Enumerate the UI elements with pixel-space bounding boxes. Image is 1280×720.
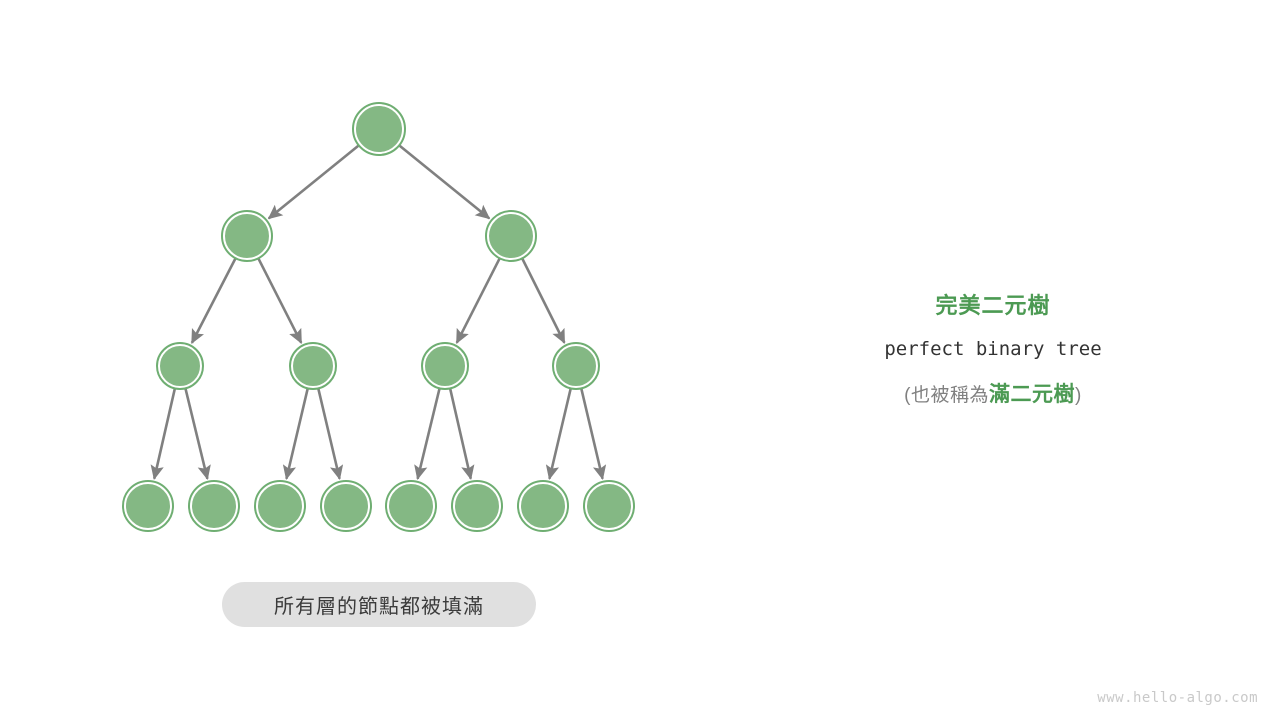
tree-node xyxy=(585,482,633,530)
caption-badge: 所有層的節點都被填滿 xyxy=(222,582,536,627)
tree-node xyxy=(190,482,238,530)
tree-edge xyxy=(269,145,359,218)
tree-edges-layer xyxy=(0,0,760,640)
tree-node xyxy=(423,344,467,388)
tree-node xyxy=(158,344,202,388)
tree-edge xyxy=(154,388,175,478)
tree-edge xyxy=(581,388,602,478)
tree-edges-group xyxy=(154,145,602,478)
legend-title: 完美二元樹 xyxy=(808,292,1178,320)
caption-label: 所有層的節點都被填滿 xyxy=(274,590,484,619)
tree-edge xyxy=(549,388,570,478)
tree-edge xyxy=(418,388,440,478)
legend-alias-prefix: (也被稱為 xyxy=(904,385,989,406)
tree-node xyxy=(487,212,535,260)
legend-block: 完美二元樹 perfect binary tree (也被稱為滿二元樹) xyxy=(808,292,1178,408)
legend-alias-suffix: ) xyxy=(1075,385,1082,406)
tree-edge xyxy=(450,388,471,478)
legend-alias-strong: 滿二元樹 xyxy=(989,383,1075,406)
tree-node xyxy=(387,482,435,530)
tree-node xyxy=(223,212,271,260)
tree-node xyxy=(519,482,567,530)
tree-node xyxy=(354,104,404,154)
tree-node xyxy=(291,344,335,388)
tree-edge xyxy=(399,145,489,218)
tree-node xyxy=(453,482,501,530)
legend-subtitle: perfect binary tree xyxy=(808,338,1178,360)
tree-node xyxy=(256,482,304,530)
tree-edge xyxy=(318,388,339,478)
tree-edge xyxy=(286,388,307,478)
tree-node xyxy=(554,344,598,388)
tree-edge xyxy=(457,258,500,343)
tree-node xyxy=(322,482,370,530)
tree-edge xyxy=(192,258,236,343)
site-watermark: www.hello-algo.com xyxy=(1097,690,1258,706)
tree-node xyxy=(124,482,172,530)
tree-edge xyxy=(522,258,564,342)
diagram-canvas: 所有層的節點都被填滿 完美二元樹 perfect binary tree (也被… xyxy=(0,0,1280,720)
binary-tree-diagram xyxy=(0,0,760,640)
tree-edge xyxy=(185,388,207,478)
legend-alias: (也被稱為滿二元樹) xyxy=(808,378,1178,408)
tree-edge xyxy=(258,258,301,343)
